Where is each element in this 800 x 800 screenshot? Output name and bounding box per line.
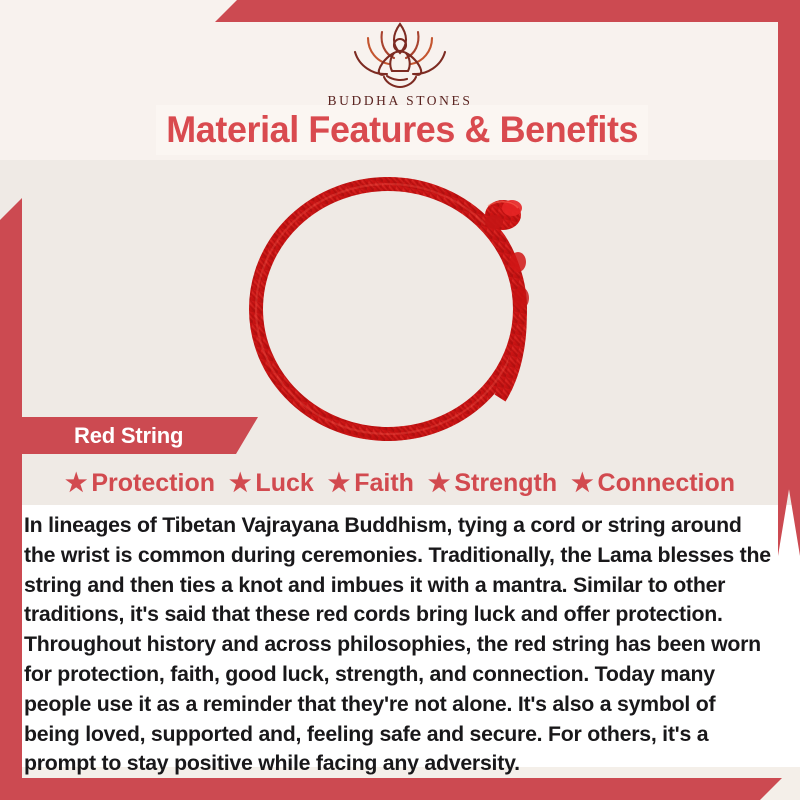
benefit-label: Protection (91, 469, 215, 498)
benefit-item-connection: ★ Connection (564, 469, 742, 498)
benefit-label: Luck (255, 469, 313, 498)
benefit-item-faith: ★ Faith (321, 469, 421, 498)
brand-logo: BUDDHA STONES (0, 18, 800, 109)
benefit-label: Faith (354, 469, 414, 498)
star-icon: ★ (229, 471, 251, 496)
star-icon: ★ (65, 471, 87, 496)
product-name-ribbon: Red String (22, 417, 258, 454)
benefit-label: Connection (598, 469, 736, 498)
benefit-item-strength: ★ Strength (421, 469, 564, 498)
page-title: Material Features & Benefits (166, 109, 638, 151)
star-icon: ★ (428, 471, 450, 496)
benefit-item-protection: ★ Protection (58, 469, 222, 498)
star-icon: ★ (571, 471, 593, 496)
product-image (200, 166, 600, 446)
adjustable-knot (485, 200, 522, 230)
decorative-bar-bottom (0, 778, 782, 800)
description-paragraph: In lineages of Tibetan Vajrayana Buddhis… (24, 511, 776, 779)
title-plate: Material Features & Benefits (156, 105, 648, 155)
benefit-item-luck: ★ Luck (222, 469, 321, 498)
star-icon: ★ (328, 471, 350, 496)
benefit-label: Strength (454, 469, 557, 498)
benefits-row: ★ Protection ★ Luck ★ Faith ★ Strength ★… (0, 464, 800, 502)
lotus-meditation-icon (335, 18, 465, 90)
red-braided-string-bracelet (200, 166, 600, 446)
product-name-label: Red String (74, 423, 183, 449)
infographic-page: BUDDHA STONES Material Features & Benefi… (0, 0, 800, 800)
